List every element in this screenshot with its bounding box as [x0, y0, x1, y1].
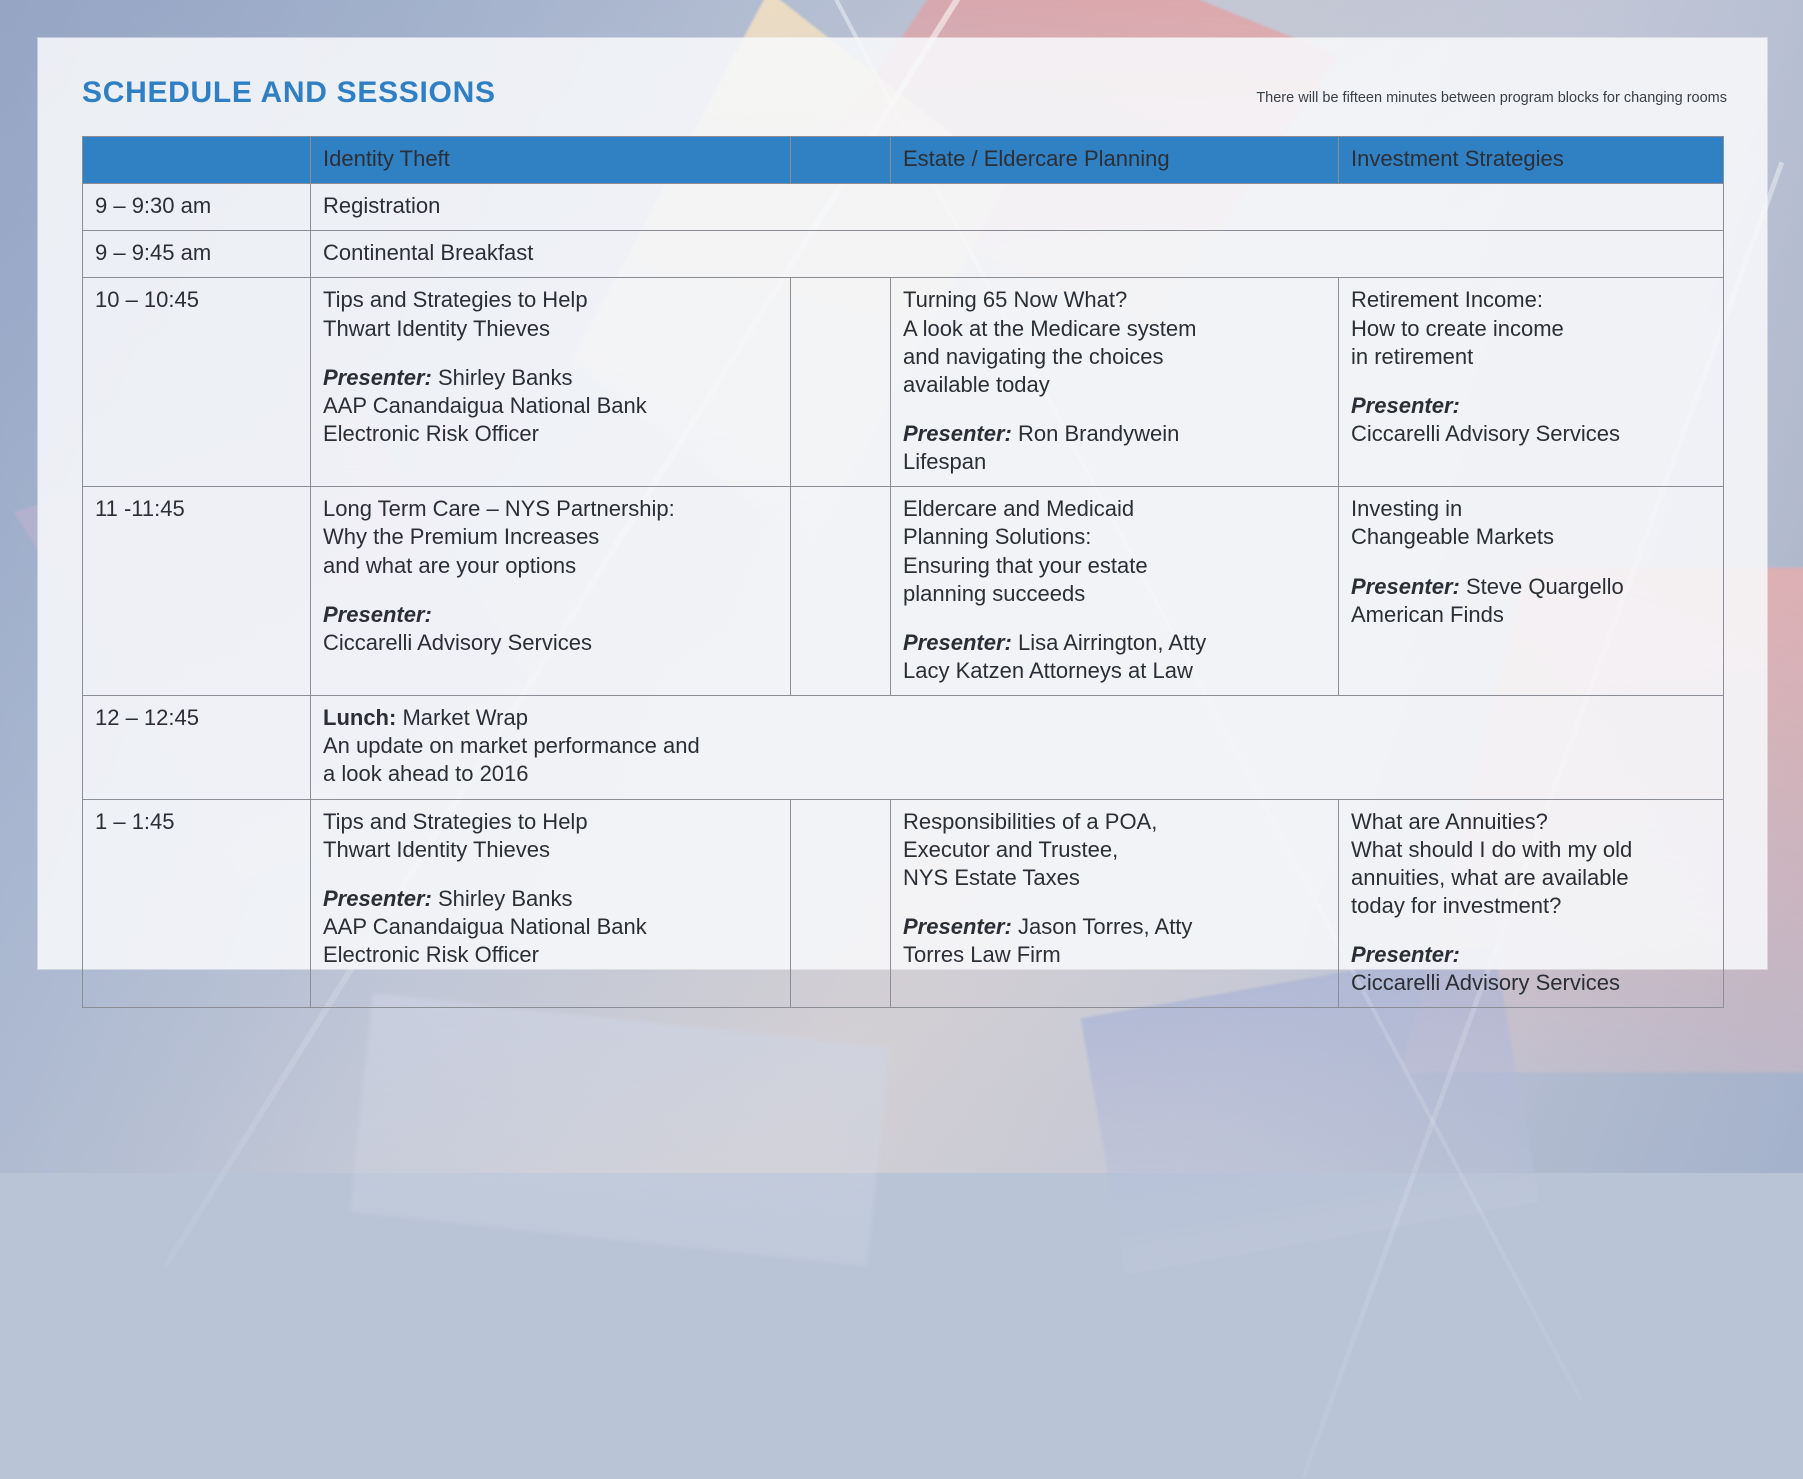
session-presenter: Presenter: Ron Brandywein	[903, 420, 1326, 448]
session-title-line: How to create income	[1351, 315, 1711, 343]
presenter-affiliation-line: Electronic Risk Officer	[323, 420, 778, 448]
spacer	[323, 580, 778, 601]
session-100-investment: What are Annuities? What should I do wit…	[1339, 799, 1724, 1008]
session-100-estate-eldercare: Responsibilities of a POA, Executor and …	[891, 799, 1339, 1008]
presenter-name: Shirley Banks	[438, 886, 573, 911]
table-row-session-1100: 11 -11:45 Long Term Care – NYS Partnersh…	[83, 487, 1724, 696]
session-title-line: in retirement	[1351, 343, 1711, 371]
presenter-name: Steve Quargello	[1466, 574, 1624, 599]
presenter-name: Shirley Banks	[438, 365, 573, 390]
registration-time: 9 – 9:30 am	[83, 184, 311, 231]
session-100-gap	[791, 799, 891, 1008]
session-title-line: Thwart Identity Thieves	[323, 315, 778, 343]
session-title-line: planning succeeds	[903, 580, 1326, 608]
lunch-time: 12 – 12:45	[83, 696, 311, 799]
table-row-session-100: 1 – 1:45 Tips and Strategies to Help Thw…	[83, 799, 1724, 1008]
session-100-identity-theft: Tips and Strategies to Help Thwart Ident…	[311, 799, 791, 1008]
session-title-line: Tips and Strategies to Help	[323, 808, 778, 836]
table-row-lunch: 12 – 12:45 Lunch: Market Wrap An update …	[83, 696, 1724, 799]
background-flag-pale-bottom	[350, 993, 890, 1266]
session-title-line: Planning Solutions:	[903, 523, 1326, 551]
spacer	[323, 343, 778, 364]
presenter-label: Presenter:	[323, 886, 432, 911]
session-title-line: Long Term Care – NYS Partnership:	[323, 495, 778, 523]
spacer	[903, 892, 1326, 913]
session-title-line: Why the Premium Increases	[323, 523, 778, 551]
presenter-label: Presenter:	[903, 630, 1012, 655]
spacer	[903, 399, 1326, 420]
session-1100-estate-eldercare: Eldercare and Medicaid Planning Solution…	[891, 487, 1339, 696]
lunch-label: Lunch:	[323, 705, 396, 730]
presenter-label: Presenter:	[1351, 941, 1711, 969]
breakfast-time: 9 – 9:45 am	[83, 231, 311, 278]
lunch-description: Lunch: Market Wrap An update on market p…	[311, 696, 1724, 799]
session-title-line: Responsibilities of a POA,	[903, 808, 1326, 836]
session-title-line: Changeable Markets	[1351, 523, 1711, 551]
presenter-name: Ron Brandywein	[1018, 421, 1179, 446]
session-title-line: and what are your options	[323, 552, 778, 580]
session-title-line: What are Annuities?	[1351, 808, 1711, 836]
session-title-line: Ensuring that your estate	[903, 552, 1326, 580]
session-title-line: and navigating the choices	[903, 343, 1326, 371]
track-header-row: Identity Theft Estate / Eldercare Planni…	[83, 137, 1724, 184]
registration-label: Registration	[311, 184, 1724, 231]
session-100-time: 1 – 1:45	[83, 799, 311, 1008]
session-title-line: Executor and Trustee,	[903, 836, 1326, 864]
session-presenter: Presenter: Jason Torres, Atty	[903, 913, 1326, 941]
presenter-label: Presenter:	[1351, 392, 1711, 420]
presenter-affiliation-line: Ciccarelli Advisory Services	[1351, 969, 1711, 997]
presenter-affiliation-line: Lifespan	[903, 448, 1326, 476]
presenter-label: Presenter:	[903, 421, 1012, 446]
breakfast-label: Continental Breakfast	[311, 231, 1724, 278]
presenter-affiliation-line: Lacy Katzen Attorneys at Law	[903, 657, 1326, 685]
session-1100-identity-theft: Long Term Care – NYS Partnership: Why th…	[311, 487, 791, 696]
session-1000-gap	[791, 278, 891, 487]
lunch-detail-line: An update on market performance and	[323, 732, 1711, 760]
session-title-line: Retirement Income:	[1351, 286, 1711, 314]
session-title-line: today for investment?	[1351, 892, 1711, 920]
table-row-session-1000: 10 – 10:45 Tips and Strategies to Help T…	[83, 278, 1724, 487]
session-title-line: NYS Estate Taxes	[903, 864, 1326, 892]
presenter-affiliation-line: AAP Canandaigua National Bank	[323, 392, 778, 420]
session-1100-investment: Investing in Changeable Markets Presente…	[1339, 487, 1724, 696]
presenter-name: Lisa Airrington, Atty	[1018, 630, 1206, 655]
session-title-line: Investing in	[1351, 495, 1711, 523]
presenter-affiliation-line: American Finds	[1351, 601, 1711, 629]
presenter-affiliation-line: Ciccarelli Advisory Services	[1351, 420, 1711, 448]
page-header: SCHEDULE AND SESSIONS There will be fift…	[82, 76, 1727, 110]
presenter-label: Presenter:	[1351, 574, 1460, 599]
session-title-line: Thwart Identity Thieves	[323, 836, 778, 864]
session-1000-investment: Retirement Income: How to create income …	[1339, 278, 1724, 487]
table-row-registration: 9 – 9:30 am Registration	[83, 184, 1724, 231]
presenter-label: Presenter:	[323, 601, 778, 629]
session-1000-identity-theft: Tips and Strategies to Help Thwart Ident…	[311, 278, 791, 487]
spacer	[323, 864, 778, 885]
session-presenter: Presenter: Steve Quargello	[1351, 573, 1711, 601]
session-title-line: Eldercare and Medicaid	[903, 495, 1326, 523]
lunch-topic: Market Wrap	[402, 705, 528, 730]
presenter-affiliation-line: Ciccarelli Advisory Services	[323, 629, 778, 657]
presenter-label: Presenter:	[323, 365, 432, 390]
spacer	[1351, 920, 1711, 941]
session-title-line: annuities, what are available	[1351, 864, 1711, 892]
session-1000-time: 10 – 10:45	[83, 278, 311, 487]
header-time-blank	[83, 137, 311, 184]
header-track-investment: Investment Strategies	[1339, 137, 1724, 184]
presenter-affiliation-line: AAP Canandaigua National Bank	[323, 913, 778, 941]
schedule-note: There will be fifteen minutes between pr…	[1256, 90, 1727, 106]
schedule-card: SCHEDULE AND SESSIONS There will be fift…	[38, 38, 1767, 969]
lunch-title: Lunch: Market Wrap	[323, 704, 1711, 732]
spacer	[903, 608, 1326, 629]
session-title-line: Turning 65 Now What?	[903, 286, 1326, 314]
header-gap-blank	[791, 137, 891, 184]
page-title: SCHEDULE AND SESSIONS	[82, 76, 496, 110]
session-1100-time: 11 -11:45	[83, 487, 311, 696]
header-track-identity-theft: Identity Theft	[311, 137, 791, 184]
presenter-affiliation-line: Torres Law Firm	[903, 941, 1326, 969]
spacer	[1351, 371, 1711, 392]
session-title-line: Tips and Strategies to Help	[323, 286, 778, 314]
session-1100-gap	[791, 487, 891, 696]
presenter-label: Presenter:	[903, 914, 1012, 939]
session-title-line: available today	[903, 371, 1326, 399]
session-1000-estate-eldercare: Turning 65 Now What? A look at the Medic…	[891, 278, 1339, 487]
header-track-estate-eldercare: Estate / Eldercare Planning	[891, 137, 1339, 184]
presenter-affiliation-line: Electronic Risk Officer	[323, 941, 778, 969]
schedule-table: 9 – 9:30 am Registration 9 – 9:45 am Con…	[82, 136, 1724, 1008]
session-presenter: Presenter: Shirley Banks	[323, 364, 778, 392]
session-title-line: What should I do with my old	[1351, 836, 1711, 864]
spacer	[1351, 552, 1711, 573]
lunch-detail-line: a look ahead to 2016	[323, 760, 1711, 788]
table-row-breakfast: 9 – 9:45 am Continental Breakfast	[83, 231, 1724, 278]
session-presenter: Presenter: Shirley Banks	[323, 885, 778, 913]
session-title-line: A look at the Medicare system	[903, 315, 1326, 343]
presenter-name: Jason Torres, Atty	[1018, 914, 1192, 939]
session-presenter: Presenter: Lisa Airrington, Atty	[903, 629, 1326, 657]
